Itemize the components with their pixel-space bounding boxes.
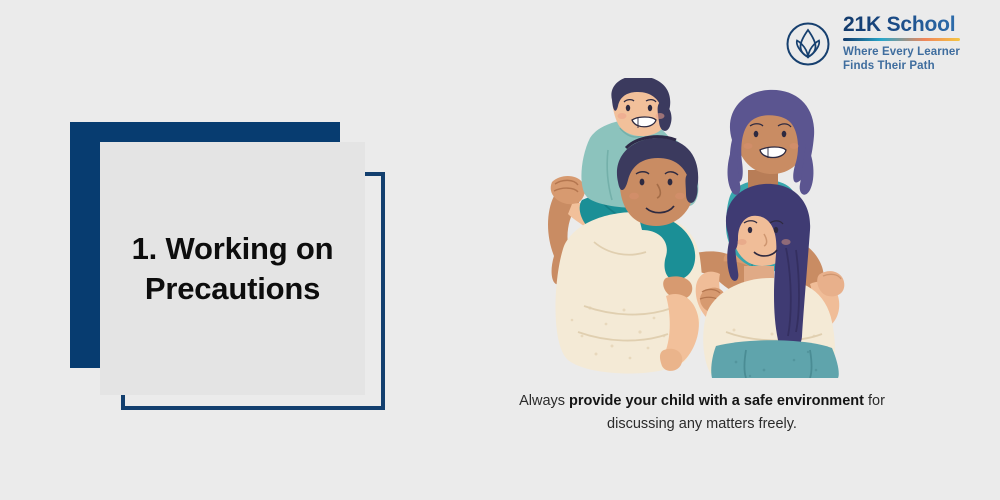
brand-tagline-line1: Where Every Learner: [843, 46, 960, 58]
page-title: 1. Working on Precautions: [100, 229, 365, 308]
brand-logo: 21K School Where Every Learner Finds The…: [785, 14, 960, 74]
family-piggyback-illustration: [520, 78, 865, 378]
brand-tagline-line2: Finds Their Path: [843, 60, 935, 72]
caption-bold: provide your child with a safe environme…: [569, 393, 864, 409]
caption-part1: Always: [519, 393, 569, 409]
slide-canvas: 21K School Where Every Learner Finds The…: [0, 0, 1000, 500]
title-card: 1. Working on Precautions: [100, 142, 365, 395]
brand-name: 21K School: [843, 14, 960, 35]
caption-text: Always provide your child with a safe en…: [512, 390, 892, 437]
brand-gradient-rule: [843, 38, 960, 41]
lotus-circle-icon: [785, 21, 831, 67]
